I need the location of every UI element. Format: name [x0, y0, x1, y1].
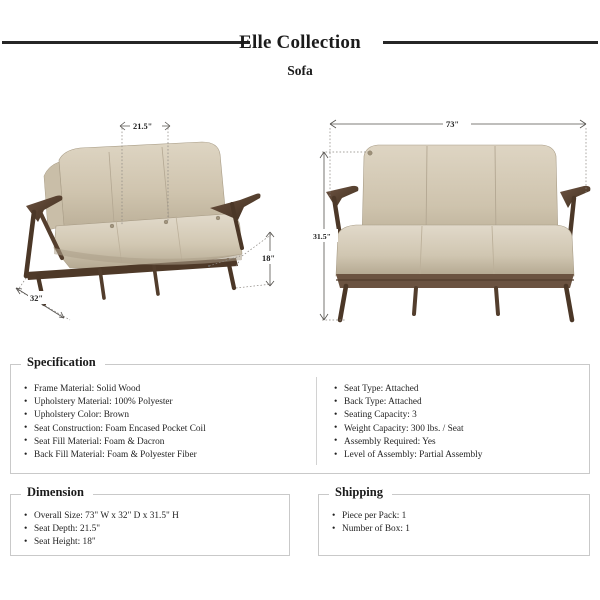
- list-item: Upholstery Color: Brown: [23, 409, 303, 422]
- shipping-panel: Shipping Piece per Pack: 1 Number of Box…: [318, 494, 590, 556]
- product-type-subtitle: Sofa: [0, 63, 600, 79]
- sofa-perspective-diagram: 21.5" 18": [4, 108, 304, 343]
- list-item: Weight Capacity: 300 lbs. / Seat: [333, 423, 583, 436]
- specification-list-right: Seat Type: Attached Back Type: Attached …: [333, 383, 583, 462]
- page-header: Elle Collection: [0, 30, 600, 60]
- list-item: Overall Size: 73" W x 32" D x 31.5" H: [23, 510, 289, 523]
- sofa-illustration-perspective: [26, 142, 261, 304]
- list-item: Frame Material: Solid Wood: [23, 383, 303, 396]
- list-item: Back Fill Material: Foam & Polyester Fib…: [23, 449, 303, 462]
- sofa-front-elevation-diagram: 73" 31.5": [312, 108, 600, 343]
- list-item: Seat Fill Material: Foam & Dacron: [23, 436, 303, 449]
- specification-list-left: Frame Material: Solid Wood Upholstery Ma…: [23, 383, 303, 462]
- callout-seat-height-label: 18": [262, 254, 275, 263]
- callout-seat-height: 18": [236, 232, 282, 288]
- list-item: Number of Box: 1: [331, 523, 589, 536]
- callout-depth-label: 32": [30, 294, 43, 303]
- specification-panel: Specification Frame Material: Solid Wood…: [10, 364, 590, 474]
- list-item: Seat Depth: 21.5": [23, 523, 289, 536]
- shipping-list: Piece per Pack: 1 Number of Box: 1: [331, 510, 589, 536]
- list-item: Upholstery Material: 100% Polyester: [23, 396, 303, 409]
- shipping-heading: Shipping: [329, 485, 392, 499]
- callout-height-label: 31.5": [313, 232, 331, 241]
- list-item: Seating Capacity: 3: [333, 409, 583, 422]
- list-item: Seat Height: 18": [23, 536, 289, 549]
- collection-title: Elle Collection: [0, 30, 600, 56]
- callout-width-label: 73": [446, 120, 459, 129]
- list-item: Seat Construction: Foam Encased Pocket C…: [23, 423, 303, 436]
- product-spec-sheet: Elle Collection Sofa: [0, 0, 600, 600]
- specification-column-divider: [316, 377, 317, 465]
- list-item: Seat Type: Attached: [333, 383, 583, 396]
- list-item: Back Type: Attached: [333, 396, 583, 409]
- diagram-area: 21.5" 18": [0, 108, 600, 343]
- specification-heading: Specification: [21, 355, 105, 369]
- list-item: Level of Assembly: Partial Assembly: [333, 449, 583, 462]
- list-item: Piece per Pack: 1: [331, 510, 589, 523]
- dimension-list: Overall Size: 73" W x 32" D x 31.5" H Se…: [23, 510, 289, 550]
- dimension-heading: Dimension: [21, 485, 93, 499]
- sofa-illustration-front: [326, 145, 590, 320]
- callout-seat-depth-label: 21.5": [133, 122, 152, 131]
- dimension-panel: Dimension Overall Size: 73" W x 32" D x …: [10, 494, 290, 556]
- list-item: Assembly Required: Yes: [333, 436, 583, 449]
